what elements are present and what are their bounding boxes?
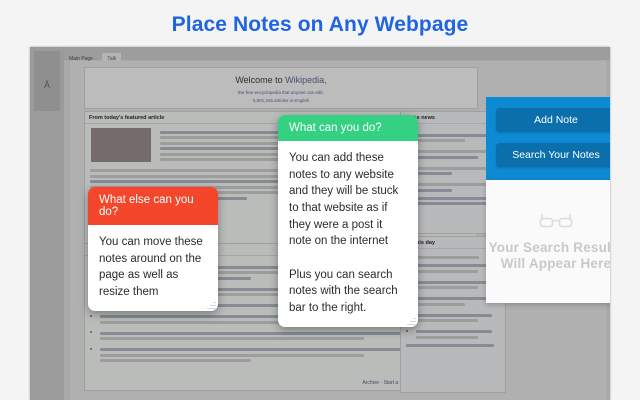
text-line xyxy=(416,264,492,267)
bullet-icon xyxy=(90,348,92,350)
text-line xyxy=(406,197,494,200)
wikipedia-sidebar: Ā xyxy=(30,47,64,400)
text-line xyxy=(416,319,478,322)
text-line xyxy=(416,270,478,273)
note-header[interactable]: What else can you do? xyxy=(88,187,218,225)
text-line xyxy=(100,354,364,357)
text-line xyxy=(416,286,478,289)
text-line xyxy=(100,359,251,362)
welcome-card: Welcome to Wikipedia, the free encyclope… xyxy=(84,67,478,109)
resize-handle[interactable] xyxy=(207,300,216,309)
bullet-icon xyxy=(406,330,408,332)
page-title: Place Notes on Any Webpage xyxy=(0,13,640,37)
extension-panel: Add Note Search Your Notes xyxy=(486,97,610,180)
text-line xyxy=(416,303,465,306)
text-line xyxy=(416,167,492,170)
screenshot-root: Place Notes on Any Webpage Ā Main Page T… xyxy=(0,0,640,400)
text-line xyxy=(416,297,492,300)
text-line xyxy=(416,281,492,284)
text-line xyxy=(100,332,420,335)
welcome-tagline: the free encyclopedia that anyone can ed… xyxy=(238,90,324,95)
welcome-prefix: Welcome to xyxy=(235,75,285,85)
glasses-icon xyxy=(539,211,573,233)
bullet-icon xyxy=(90,315,92,317)
text-line xyxy=(416,330,492,333)
note-body[interactable]: You can move these notes around on the p… xyxy=(88,225,218,311)
text-line xyxy=(416,156,478,159)
resize-handle[interactable] xyxy=(407,316,416,325)
text-line xyxy=(416,139,465,142)
add-note-button[interactable]: Add Note xyxy=(496,108,610,132)
wikipedia-logo: Ā xyxy=(34,51,60,111)
text-line xyxy=(100,348,420,351)
list-item xyxy=(401,328,505,342)
text-line xyxy=(416,336,478,339)
text-line xyxy=(416,314,492,317)
note-body[interactable]: You can add these notes to any website a… xyxy=(278,141,418,327)
featured-article-thumbnail xyxy=(91,128,151,162)
note-what-else-can-you-do[interactable]: What else can you do? You can move these… xyxy=(88,187,218,311)
search-results-panel: Your Search Results Will Appear Here xyxy=(486,180,610,303)
bullet-icon xyxy=(90,331,92,333)
text-line xyxy=(416,134,492,137)
browser-screenshot: Ā Main Page Talk Welcome to Wikipedia, t… xyxy=(30,47,610,400)
welcome-subline: the free encyclopedia that anyone can ed… xyxy=(85,85,477,105)
search-notes-button[interactable]: Search Your Notes xyxy=(496,143,610,167)
note-what-can-you-do[interactable]: What can you do? You can add these notes… xyxy=(278,115,418,327)
text-line xyxy=(406,344,494,347)
search-results-placeholder: Your Search Results Will Appear Here xyxy=(486,240,610,273)
text-line xyxy=(406,202,494,205)
note-header[interactable]: What can you do? xyxy=(278,115,418,141)
text-line xyxy=(416,172,452,175)
wikipedia-tab-bar: Main Page Talk xyxy=(64,47,610,60)
text-line xyxy=(416,183,492,186)
text-line xyxy=(416,150,492,153)
text-line xyxy=(100,337,364,340)
welcome-article-count: 5,901,345 articles in English xyxy=(253,98,309,103)
wikipedia-link[interactable]: Wikipedia, xyxy=(285,75,327,85)
welcome-heading: Welcome to Wikipedia, xyxy=(85,68,477,85)
text-line xyxy=(416,189,452,192)
